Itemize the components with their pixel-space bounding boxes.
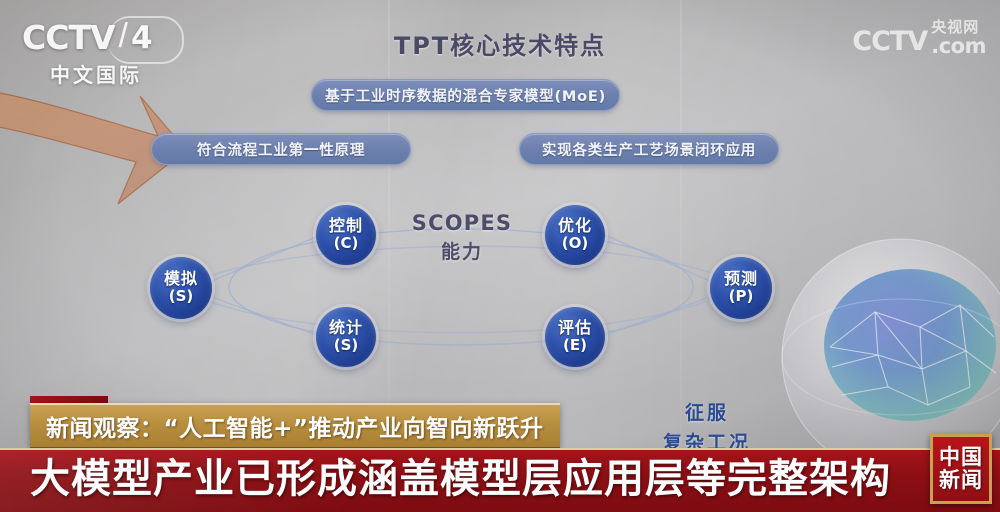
channel-bug-separator: / [119, 17, 128, 56]
scopes-node-control-en: (C) [334, 235, 359, 252]
program-badge-line2: 新闻 [939, 469, 983, 492]
lower-third-topic-bar: 新闻观察：“人工智能+”推动产业向智向新跃升 [30, 403, 560, 448]
program-badge-line1: 中国 [939, 446, 983, 469]
lower-third-topic-text: 新闻观察：“人工智能+”推动产业向智向新跃升 [46, 409, 544, 443]
scopes-node-simulate: 模拟 (S) [150, 257, 212, 319]
scopes-node-optimize-en: (O) [562, 235, 588, 252]
scopes-node-predict-cn: 预测 [724, 271, 758, 288]
scopes-node-simulate-en: (S) [169, 288, 194, 305]
scopes-node-predict-en: (P) [729, 288, 754, 305]
scopes-node-statistics-en: (S) [334, 337, 359, 354]
scopes-node-predict: 预测 (P) [710, 257, 772, 319]
site-watermark-tld: .com [931, 36, 986, 57]
scopes-node-evaluate: 评估 (E) [545, 307, 605, 367]
lower-third-headline: 大模型产业已形成涵盖模型层应用层等完整架构 [30, 446, 891, 504]
scopes-node-evaluate-cn: 评估 [558, 320, 592, 337]
scopes-node-optimize: 优化 (O) [545, 205, 605, 265]
scopes-node-statistics-cn: 统计 [329, 320, 363, 337]
scopes-center-en: SCOPES [382, 211, 542, 235]
chip-moe: 基于工业时序数据的混合专家模型(MoE) [311, 79, 620, 111]
site-watermark: CCTV 央视网 .com [852, 20, 986, 57]
scopes-center-cn: 能力 [382, 237, 542, 264]
site-watermark-cctv: CCTV [852, 26, 927, 57]
site-watermark-cn: 央视网 [931, 20, 986, 35]
site-watermark-stack: 央视网 .com [931, 20, 986, 57]
scopes-center-label: SCOPES 能力 [382, 211, 542, 264]
scopes-node-optimize-cn: 优化 [558, 218, 592, 235]
scopes-node-statistics: 统计 (S) [316, 307, 376, 367]
slide-side-text-line1: 征服 [663, 398, 751, 425]
scopes-node-control: 控制 (C) [316, 205, 376, 265]
scopes-node-simulate-cn: 模拟 [164, 271, 198, 288]
chip-moe-label: 基于工业时序数据的混合专家模型(MoE) [325, 85, 606, 106]
chip-closed-loop-label: 实现各类生产工艺场景闭环应用 [542, 139, 756, 160]
chip-first-principles-label: 符合流程工业第一性原理 [197, 139, 365, 160]
broadcast-screenshot: TPT核心技术特点 基于工业时序数据的混合专家模型(MoE) 符合流程工业第一性… [0, 0, 1000, 512]
chip-closed-loop: 实现各类生产工艺场景闭环应用 [519, 133, 779, 165]
chip-first-principles: 符合流程工业第一性原理 [151, 133, 411, 165]
channel-bug-cctv4: CCTV / 4 中文国际 [22, 18, 182, 94]
scopes-node-evaluate-en: (E) [563, 337, 587, 354]
scopes-node-control-cn: 控制 [329, 218, 363, 235]
scopes-diagram: 模拟 (S) 控制 (C) 优化 (O) 预测 (P) 统计 (S) 评估 (E… [120, 185, 840, 385]
channel-bug-cctv-text: CCTV [22, 18, 115, 57]
program-badge-china-news: 中国 新闻 [930, 434, 992, 504]
